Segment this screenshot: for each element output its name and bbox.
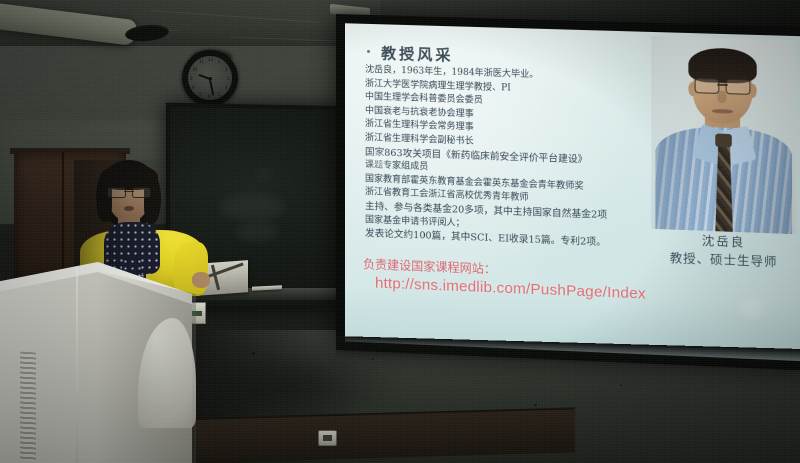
wall-outlet[interactable]: [318, 430, 337, 446]
clock-minute-hand: [209, 79, 214, 96]
clock-numeral: 1: [218, 60, 221, 65]
eyeglass-lens: [107, 187, 126, 198]
podium-edge: [76, 266, 78, 463]
portrait-caption: 沈岳良 教授、硕士生导师: [651, 231, 796, 272]
portrait-nose: [717, 91, 726, 104]
eyeglass-lens: [726, 79, 751, 95]
clock-numeral: 6: [208, 95, 211, 100]
eyeglass-lens: [695, 78, 720, 94]
portrait-eyebrow: [699, 74, 716, 78]
podium-vent-slots: [20, 352, 36, 461]
wall-speck: [534, 404, 537, 406]
clock-numeral: 9: [190, 77, 193, 82]
clock-numeral: 10: [192, 68, 197, 73]
portrait-photo: [651, 36, 796, 234]
outlet-socket-icon: [323, 435, 332, 441]
presentation-slide: 教授风采 沈岳良，1963年生，1984年浙医大毕业。 浙江大学医学院病理生理学…: [345, 23, 800, 361]
chalk-smudge: [236, 222, 279, 241]
clock-numeral: 2: [225, 68, 228, 73]
projection-screen: 教授风采 沈岳良，1963年生，1984年浙医大毕业。 浙江大学医学院病理生理学…: [336, 14, 800, 371]
portrait-tie-knot: [715, 133, 732, 147]
lecture-hall-photo: 12 1 2 3 4 5 6 7 8 9 10 11: [0, 0, 800, 463]
eyeglass-bridge: [717, 84, 727, 86]
screen-specular: [732, 297, 774, 321]
slide-bullet-list: 沈岳良，1963年生，1984年浙医大毕业。 浙江大学医学院病理生理学教授、PI…: [365, 64, 660, 252]
door-seam: [62, 152, 64, 280]
clock-face: 12 1 2 3 4 5 6 7 8 9 10 11: [188, 56, 232, 100]
clock-numeral: 8: [192, 86, 195, 91]
title-bullet-icon: [367, 50, 370, 53]
clock-numeral: 5: [218, 93, 221, 98]
clock-numeral: 11: [199, 60, 204, 65]
presenter-hand: [192, 272, 210, 288]
chalk-smudge: [255, 167, 274, 182]
slide-title: 教授风采: [381, 42, 453, 65]
clock-numeral: 3: [227, 77, 230, 82]
eyeglass-bridge: [124, 191, 134, 192]
eyeglasses-icon: [107, 187, 151, 196]
wall-speck: [620, 384, 622, 386]
eyeglass-lens: [132, 187, 151, 198]
clock-numeral: 7: [199, 93, 202, 98]
clock-numeral: 12: [208, 58, 213, 63]
clock-center-pin: [209, 77, 212, 80]
wall-clock: 12 1 2 3 4 5 6 7 8 9 10 11: [182, 50, 238, 106]
chalk-smudge: [220, 193, 284, 220]
wall-speck: [252, 352, 255, 355]
presenter-mouth: [124, 206, 134, 211]
clock-numeral: 4: [225, 86, 228, 91]
